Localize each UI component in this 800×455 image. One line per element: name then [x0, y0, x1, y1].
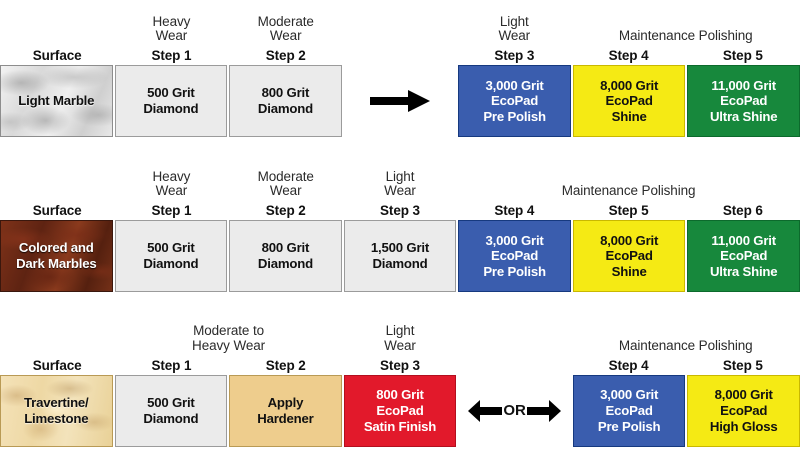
step-cell-r2c5: 3,000 Grit EcoPad Pre Polish	[458, 220, 571, 292]
step-cell-r2c6: 8,000 Grit EcoPad Shine	[573, 220, 686, 292]
polishing-steps-chart: Heavy Wear Moderate Wear Light Wear Main…	[0, 0, 800, 455]
surface-cell-colored-dark-marbles: Colored and Dark Marbles	[0, 220, 113, 292]
wear-label-r1c5: Light Wear	[457, 0, 571, 44]
wear-label-r2c4: Light Wear	[343, 155, 457, 199]
wear-label-r3c4: Light Wear	[343, 310, 457, 354]
surface-cell-travertine-limestone: Travertine/ Limestone	[0, 375, 113, 447]
step-label-r1c6: Step 4	[571, 44, 685, 65]
cells-row-2: Colored and Dark Marbles 500 Grit Diamon…	[0, 220, 800, 292]
step-cell-r3c2: 500 Grit Diamond	[115, 375, 228, 447]
wear-label-r2c1	[0, 155, 114, 199]
wear-label-r1c1	[0, 0, 114, 44]
step-label-r2c1: Surface	[0, 199, 114, 220]
step-label-r1c1: Surface	[0, 44, 114, 65]
step-cell-r1c5: 3,000 Grit EcoPad Pre Polish	[458, 65, 571, 137]
step-label-r3c1: Surface	[0, 354, 114, 375]
maintenance-polishing-label-row-2: Maintenance Polishing	[457, 155, 800, 199]
step-label-r3c2: Step 1	[114, 354, 228, 375]
step-cell-r1c2: 500 Grit Diamond	[115, 65, 228, 137]
step-label-r2c5: Step 4	[457, 199, 571, 220]
or-branch-indicator: OR	[458, 375, 571, 447]
step-cell-r1c6: 8,000 Grit EcoPad Shine	[573, 65, 686, 137]
step-label-r3c7: Step 5	[686, 354, 800, 375]
step-label-r2c7: Step 6	[686, 199, 800, 220]
step-header-row-1: Surface Step 1 Step 2 Step 3 Step 4 Step…	[0, 44, 800, 65]
step-label-r2c3: Step 2	[229, 199, 343, 220]
surface-cell-light-marble: Light Marble	[0, 65, 113, 137]
step-label-r2c6: Step 5	[571, 199, 685, 220]
cells-row-1: Light Marble 500 Grit Diamond 800 Grit D…	[0, 65, 800, 137]
step-cell-r3c4: 800 Grit EcoPad Satin Finish	[344, 375, 457, 447]
wear-label-r1c2: Heavy Wear	[114, 0, 228, 44]
wear-label-r1c4	[343, 0, 457, 44]
maintenance-polishing-label-row-3: Maintenance Polishing	[571, 310, 800, 354]
step-cell-r2c2: 500 Grit Diamond	[115, 220, 228, 292]
step-label-r2c2: Step 1	[114, 199, 228, 220]
step-label-r1c4	[343, 44, 457, 65]
or-label: OR	[503, 402, 526, 420]
step-label-r1c7: Step 5	[686, 44, 800, 65]
step-label-r1c5: Step 3	[457, 44, 571, 65]
step-label-r2c4: Step 3	[343, 199, 457, 220]
step-cell-r2c4: 1,500 Grit Diamond	[344, 220, 457, 292]
row-divider-1	[0, 145, 800, 155]
step-label-r3c5	[457, 354, 571, 375]
step-header-row-2: Surface Step 1 Step 2 Step 3 Step 4 Step…	[0, 199, 800, 220]
cells-row-3: Travertine/ Limestone 500 Grit Diamond A…	[0, 375, 800, 447]
wear-label-r3c1	[0, 310, 114, 354]
step-cell-r2c7: 11,000 Grit EcoPad Ultra Shine	[687, 220, 800, 292]
right-arrow-icon	[344, 65, 457, 137]
row-colored-dark-marbles: Heavy Wear Moderate Wear Light Wear Main…	[0, 155, 800, 300]
row-light-marble: Heavy Wear Moderate Wear Light Wear Main…	[0, 0, 800, 145]
wear-header-row-2: Heavy Wear Moderate Wear Light Wear Main…	[0, 155, 800, 199]
step-label-r1c2: Step 1	[114, 44, 228, 65]
maintenance-polishing-label-row-1: Maintenance Polishing	[571, 0, 800, 44]
step-label-r3c6: Step 4	[571, 354, 685, 375]
wear-label-r3c5	[457, 310, 571, 354]
wear-label-r2c3: Moderate Wear	[229, 155, 343, 199]
step-cell-r1c7: 11,000 Grit EcoPad Ultra Shine	[687, 65, 800, 137]
step-cell-r1c3: 800 Grit Diamond	[229, 65, 342, 137]
row-divider-2	[0, 300, 800, 310]
step-cell-r2c3: 800 Grit Diamond	[229, 220, 342, 292]
step-cell-r3c7: 8,000 Grit EcoPad High Gloss	[687, 375, 800, 447]
left-arrow-icon	[468, 399, 502, 423]
wear-label-r2c2: Heavy Wear	[114, 155, 228, 199]
wear-header-row-3: Moderate to Heavy Wear Light Wear Mainte…	[0, 310, 800, 354]
step-label-r3c4: Step 3	[343, 354, 457, 375]
step-cell-r3c3: Apply Hardener	[229, 375, 342, 447]
step-label-r1c3: Step 2	[229, 44, 343, 65]
step-header-row-3: Surface Step 1 Step 2 Step 3 Step 4 Step…	[0, 354, 800, 375]
right-arrow-icon	[527, 399, 561, 423]
step-cell-r3c6: 3,000 Grit EcoPad Pre Polish	[573, 375, 686, 447]
wear-header-row-1: Heavy Wear Moderate Wear Light Wear Main…	[0, 0, 800, 44]
wear-label-r3c2: Moderate to Heavy Wear	[114, 310, 343, 354]
row-travertine-limestone: Moderate to Heavy Wear Light Wear Mainte…	[0, 310, 800, 455]
wear-label-r1c3: Moderate Wear	[229, 0, 343, 44]
step-label-r3c3: Step 2	[229, 354, 343, 375]
